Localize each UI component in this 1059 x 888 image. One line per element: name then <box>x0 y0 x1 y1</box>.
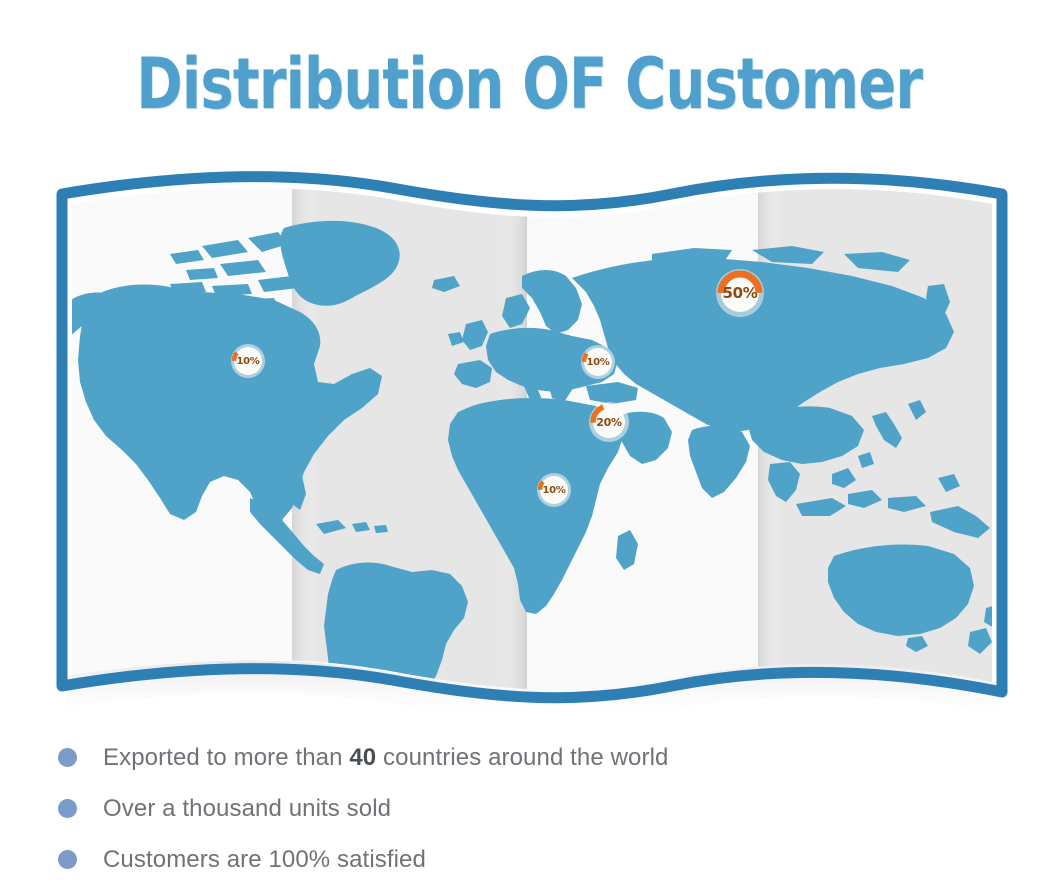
bullet-dot-icon <box>58 850 77 869</box>
header: Distribution OF Customer <box>0 0 1059 150</box>
bullet-dot-icon <box>58 799 77 818</box>
bullet-exported-countries: Exported to more than 40 countries aroun… <box>103 744 668 772</box>
list-item: Customers are 100% satisfied <box>58 834 998 885</box>
bullet-text-prefix: Exported to more than <box>103 744 349 771</box>
marker-russia[interactable]: 50% <box>715 268 765 318</box>
bullet-text-strong: 40 <box>349 744 376 771</box>
marker-middle-east[interactable]: 20% <box>588 401 630 443</box>
page-title: Distribution OF Customer <box>137 49 923 119</box>
marker-africa[interactable]: 10% <box>536 472 572 508</box>
marker-eastern-europe[interactable]: 10% <box>580 344 616 380</box>
bullet-text-suffix: countries around the world <box>376 744 668 771</box>
bullet-text-prefix: Over a thousand units sold <box>103 795 391 822</box>
world-map-svg <box>52 168 1012 718</box>
marker-north-america[interactable]: 10% <box>230 343 266 379</box>
bullet-satisfaction: Customers are 100% satisfied <box>103 846 426 874</box>
bullet-units-sold: Over a thousand units sold <box>103 795 391 823</box>
list-item: Exported to more than 40 countries aroun… <box>58 732 998 783</box>
bullet-text-prefix: Customers are 100% satisfied <box>103 846 426 873</box>
bullet-dot-icon <box>58 748 77 767</box>
world-map-panel: 10% 50% 10% 20% 10% <box>52 168 1012 718</box>
highlights-list: Exported to more than 40 countries aroun… <box>58 732 998 885</box>
list-item: Over a thousand units sold <box>58 783 998 834</box>
